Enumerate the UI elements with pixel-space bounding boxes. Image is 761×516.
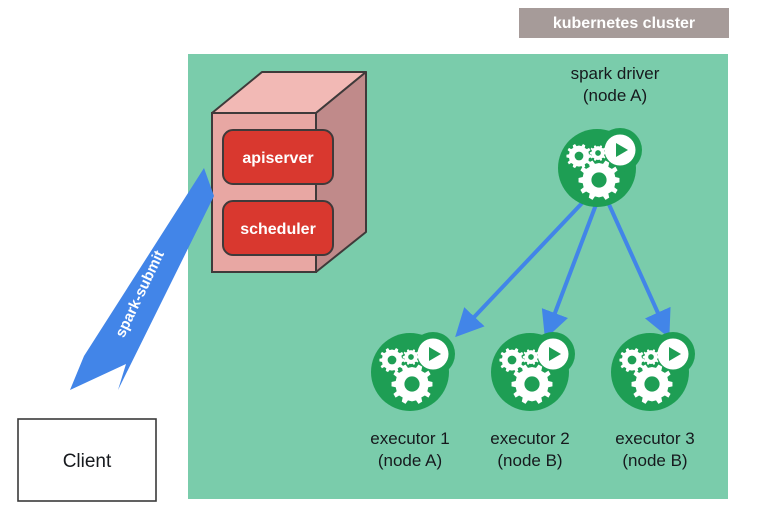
executor-1-label-line1: executor 1 <box>370 429 449 448</box>
executor-1-label-line2: (node A) <box>378 451 442 470</box>
spark-driver-label-line1: spark driver <box>571 64 660 83</box>
scheduler-label: scheduler <box>240 221 316 238</box>
apiserver-label: apiserver <box>242 150 313 167</box>
control-plane-component-apiserver[interactable]: apiserver <box>223 130 333 184</box>
diagram-canvas: kubernetes cluster apiserver scheduler <box>0 0 761 516</box>
control-plane-component-scheduler[interactable]: scheduler <box>223 201 333 255</box>
executor-3-label-line1: executor 3 <box>615 429 694 448</box>
client-box[interactable]: Client <box>18 419 156 501</box>
executor-2-label-line1: executor 2 <box>490 429 569 448</box>
client-label: Client <box>63 451 112 472</box>
executor-2-label-line2: (node B) <box>497 451 562 470</box>
cluster-banner: kubernetes cluster <box>519 8 729 38</box>
spark-driver-label-line2: (node A) <box>583 86 647 105</box>
executor-3-label-line2: (node B) <box>622 451 687 470</box>
cluster-banner-label: kubernetes cluster <box>553 15 695 32</box>
control-plane-cube: apiserver scheduler <box>212 72 366 272</box>
